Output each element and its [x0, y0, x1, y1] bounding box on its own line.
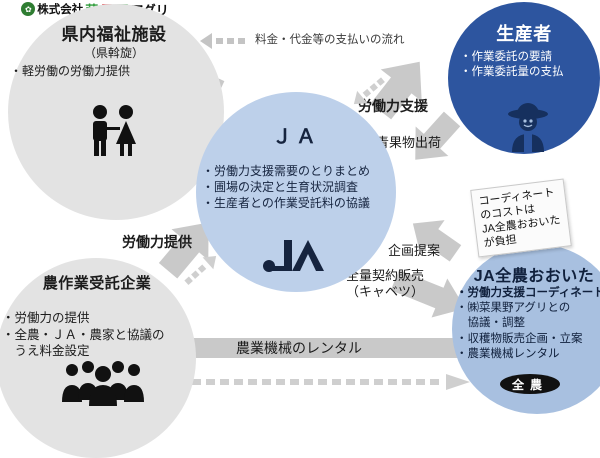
welfare-title: 県内福祉施設 [14, 20, 214, 45]
farmer-icon [500, 98, 556, 154]
welfare-subtitle: （県斡旋） [14, 44, 214, 61]
producer-bullet-1: ・作業委託量の支払 [460, 65, 596, 80]
welfare-bullet-0: ・軽労働の労働力提供 [10, 64, 220, 80]
callout-coordination-cost: コーディネート のコストは JA全農おおいた が負担 [470, 179, 572, 258]
producer-bullet-0: ・作業委託の要請 [460, 50, 596, 65]
ja-bullet-1: ・圃場の決定と生育状況調査 [202, 180, 394, 196]
company-logo-mark: ✿ [21, 2, 35, 16]
zennou-bullet-0: ・労働力支援コーディネート [456, 286, 600, 301]
ja-bullets: ・労働力支援需要のとりまとめ ・圃場の決定と生育状況調査 ・生産者との作業受託料… [202, 164, 394, 211]
arrow-label-payment-flow: 料金・代金等の支払いの流れ [255, 31, 405, 47]
zennou-title: JA全農おおいた [452, 262, 600, 286]
ja-bullet-0: ・労働力支援需要のとりまとめ [202, 164, 394, 180]
company-bullet-1: ・全農・ＪＡ・農家と協議の [2, 327, 198, 344]
company-bullets: ・労働力の提供 ・全農・ＪＡ・農家と協議の うえ料金設定 [2, 310, 198, 360]
zennou-bullet-2: 協議・調整 [456, 316, 600, 331]
zennou-bullet-3: ・収穫物販売企画・立案 [456, 332, 600, 347]
zennou-bullets: ・労働力支援コーディネート ・㈱菜果野アグリとの 協議・調整 ・収穫物販売企画・… [456, 286, 600, 362]
arrow-label-machine-rental: 農業機械のレンタル [236, 338, 362, 358]
arrow-payment-dashed-bottom [150, 374, 480, 390]
full-volume-sales-line2: （キャベツ） [346, 284, 424, 299]
two-people-icon [78, 104, 150, 156]
producer-title: 生産者 [452, 20, 596, 46]
zennou-bullet-4: ・農業機械レンタル [456, 347, 600, 362]
company-bullet-2: うえ料金設定 [2, 343, 198, 360]
group-people-icon [58, 360, 148, 406]
zennou-bullet-1: ・㈱菜果野アグリとの [456, 301, 600, 316]
producer-bullets: ・作業委託の要請 ・作業委託量の支払 [460, 50, 596, 80]
arrow-plan-proposal [392, 208, 478, 270]
ja-title: ＪＡ [200, 120, 392, 149]
diagram-canvas: 料金・代金等の支払いの流れ 労働力提供 労働力支援 青果物出荷 [0, 0, 600, 409]
arrow-label-plan-proposal: 企画提案 [388, 240, 440, 259]
ja-logo-icon [262, 238, 328, 272]
arrow-payment-dashed-right [348, 68, 398, 108]
ja-bullet-2: ・生産者との作業受託料の協議 [202, 196, 394, 212]
arrow-label-full-volume-sales: 全量契約販売 （キャベツ） [346, 268, 424, 301]
zennou-badge: 全農 [500, 374, 560, 394]
company-bullet-0: ・労働力の提供 [2, 310, 198, 327]
company-title: 農作業受託企業 [4, 272, 190, 293]
